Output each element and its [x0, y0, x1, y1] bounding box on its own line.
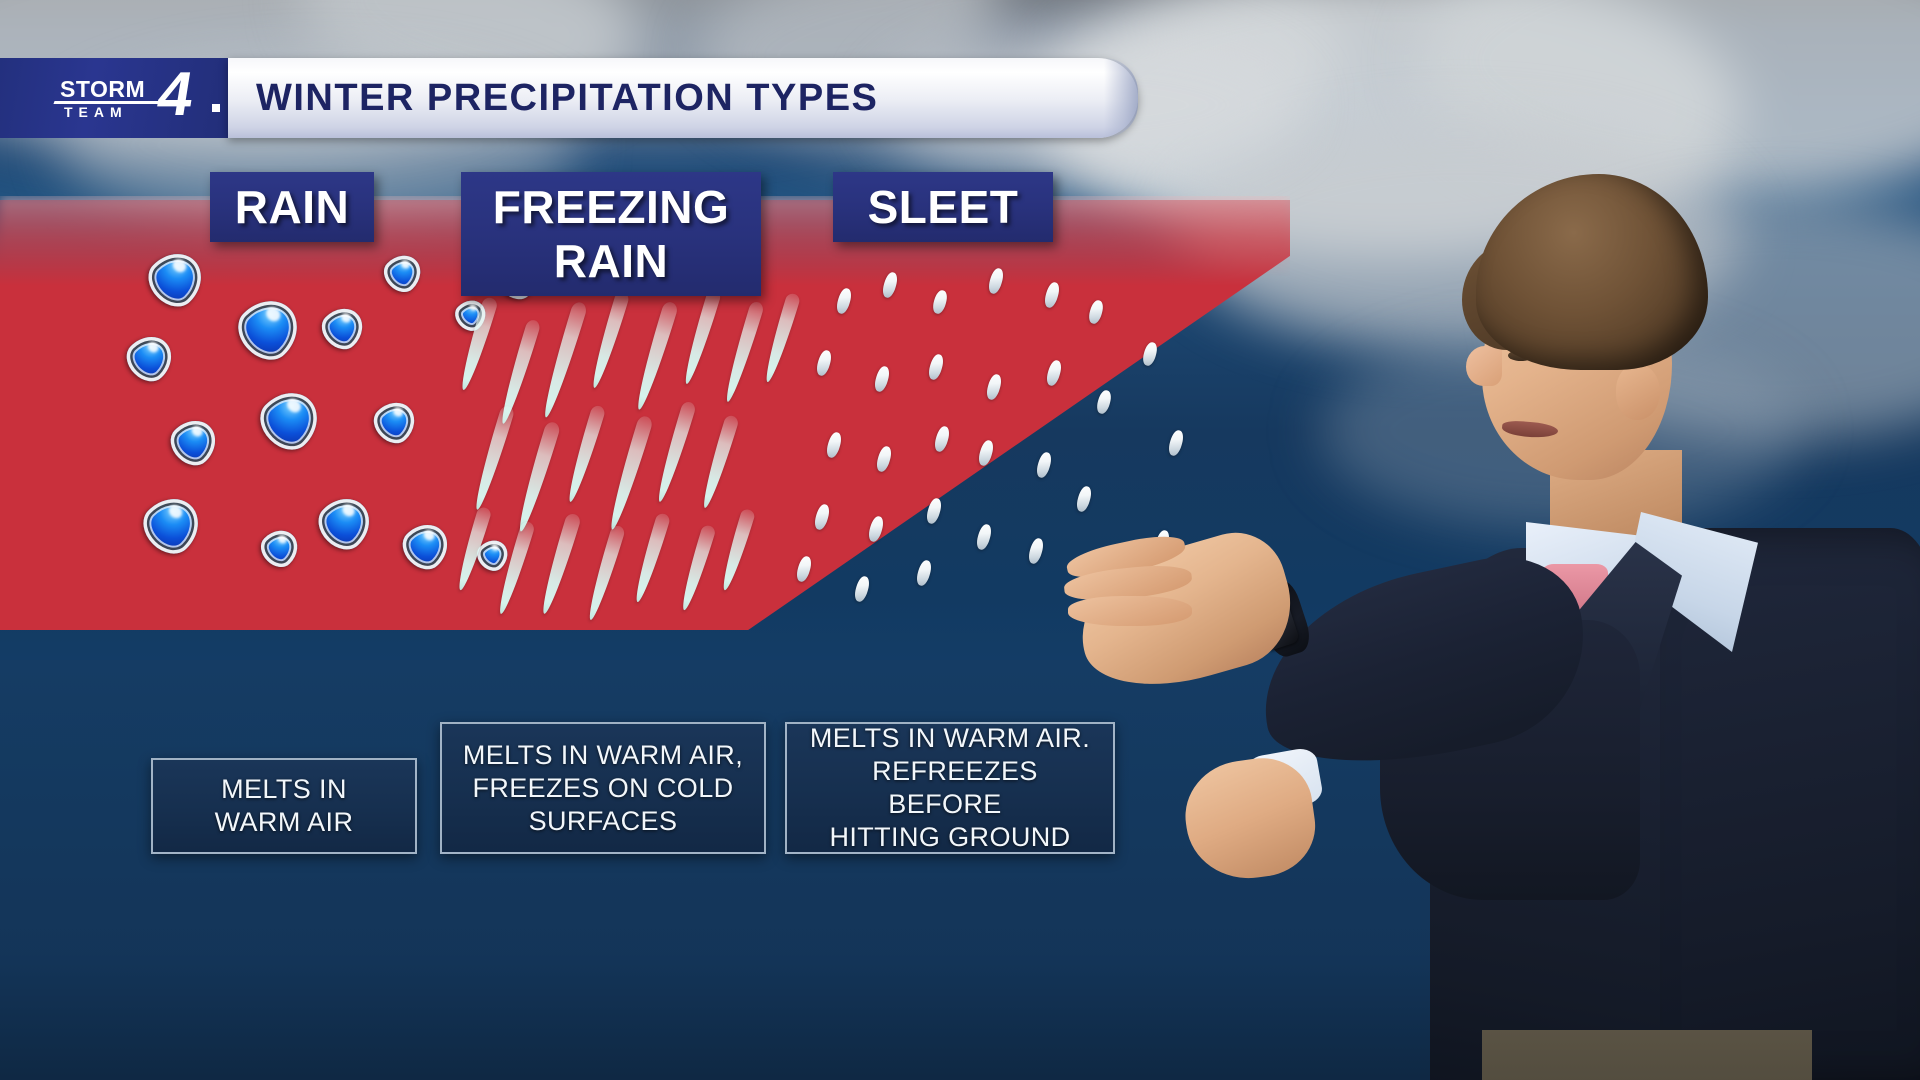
meteorologist-presenter: [1130, 150, 1920, 1080]
raindrop-icon: [323, 308, 363, 348]
raindrop-icon: [172, 420, 216, 464]
category-label-rain-text: RAIN: [235, 183, 349, 231]
logo-team-text: TEAM: [64, 104, 128, 120]
title-banner: WINTER PRECIPITATION TYPES: [228, 58, 1138, 138]
freezing-rain-line-2: RAIN: [554, 235, 668, 287]
raindrop-icon: [150, 253, 202, 305]
raindrop-icon: [145, 498, 199, 552]
caption-freezing-line-1: MELTS IN WARM AIR,: [453, 740, 753, 770]
raindrop-icon: [404, 524, 448, 568]
category-label-rain: RAIN: [210, 172, 374, 242]
trousers: [1482, 1030, 1812, 1080]
page-title: WINTER PRECIPITATION TYPES: [256, 77, 878, 120]
logo-number-4: 4: [153, 64, 197, 126]
ear: [1616, 364, 1660, 420]
raindrop-icon: [375, 402, 415, 442]
caption-text-freezing-rain: MELTS IN WARM AIR, FREEZES ON COLD SURFA…: [443, 739, 763, 838]
category-label-freezing-rain-text: FREEZING RAIN: [493, 180, 730, 288]
caption-box-freezing-rain: MELTS IN WARM AIR, FREEZES ON COLD SURFA…: [440, 722, 766, 854]
category-label-sleet: SLEET: [833, 172, 1053, 242]
category-label-sleet-text: SLEET: [868, 183, 1019, 231]
nose: [1466, 346, 1502, 386]
raindrop-icon: [262, 530, 298, 566]
logo-storm-text: STORM: [60, 76, 145, 103]
freezing-rain-line-1: FREEZING: [493, 181, 730, 233]
raindrop-icon: [478, 540, 508, 570]
finger: [1068, 596, 1192, 626]
raindrop-icon: [262, 392, 318, 448]
caption-freezing-line-2: FREEZES ON COLD: [462, 773, 743, 803]
caption-box-sleet: MELTS IN WARM AIR. REFREEZES BEFORE HITT…: [785, 722, 1115, 854]
lower-third-title-bar: STORM TEAM 4 WINTER PRECIPITATION TYPES: [0, 58, 1138, 138]
raindrop-icon: [385, 255, 421, 291]
storm-team-4-logo: STORM TEAM 4: [0, 58, 228, 138]
raindrop-icon: [240, 300, 298, 358]
logo-dot-icon: [212, 104, 220, 112]
hair: [1476, 174, 1708, 370]
caption-rain-line-1: MELTS IN: [211, 774, 357, 804]
caption-rain-line-2: WARM AIR: [205, 807, 364, 837]
caption-text-sleet: MELTS IN WARM AIR. REFREEZES BEFORE HITT…: [787, 722, 1113, 854]
caption-text-rain: MELTS IN WARM AIR: [195, 773, 374, 839]
caption-sleet-line-1: MELTS IN WARM AIR.: [800, 723, 1100, 753]
caption-sleet-line-2: REFREEZES BEFORE: [862, 756, 1038, 819]
category-label-freezing-rain: FREEZING RAIN: [461, 172, 761, 296]
caption-sleet-line-3: HITTING GROUND: [819, 822, 1080, 852]
weather-graphic-stage: STORM TEAM 4 WINTER PRECIPITATION TYPES …: [0, 0, 1920, 1080]
raindrop-icon: [320, 498, 370, 548]
raindrop-icon: [128, 336, 172, 380]
caption-box-rain: MELTS IN WARM AIR: [151, 758, 417, 854]
caption-freezing-line-3: SURFACES: [519, 806, 688, 836]
